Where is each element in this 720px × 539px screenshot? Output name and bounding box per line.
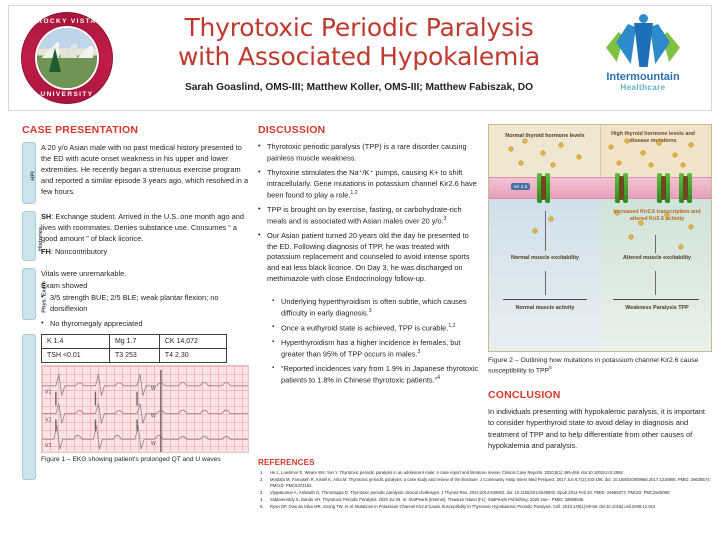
rocky-vista-university-seal-logo: ROCKY VISTA UNIVERSITY [21,12,113,104]
references-heading: REFERENCES [258,458,714,467]
figure2-mechanism-diagram: Normal thyroid hormone levels High thyro… [488,124,712,352]
svg-text:W: W [151,441,156,447]
histories-block: SH: Exchange student. Arrived in the U.S… [41,211,250,261]
lab-cell: CK 14,072 [159,334,226,348]
figure2-left-title: Normal thyroid hormone levels [495,133,595,140]
table-row: TSH <0.01 T3 253 T4 2.30 [42,348,227,362]
fh-text: : Noncontributory [51,247,107,256]
svg-text:V2: V2 [45,417,52,423]
kir26-channel-right-3 [679,173,692,203]
seal-top-text: ROCKY VISTA [21,18,113,25]
conclusion-heading: CONCLUSION [488,389,712,401]
figure1-caption: Figure 1 – EKG showing patient's prolong… [41,456,250,463]
references-list: 1.He L, Lowrimor E, Weare WV, Yan Y. Thy… [258,470,714,510]
reference-text: He L, Lowrimor E, Weare WV, Yan Y. Thyro… [270,470,623,475]
case-presentation-heading: CASE PRESENTATION [22,124,250,136]
title-line-1: Thyrotoxic Periodic Paralysis [129,14,589,43]
list-item: 4.Siddamreddy S, Dandu VH. Thyrotoxic Pe… [258,497,714,503]
list-item: Underlying hyperthyroidism is often subt… [272,297,480,319]
bullet-text: Underlying hyperthyroidism is often subt… [281,297,467,317]
author-list: Sarah Goaslind, OMS-III; Matthew Koller,… [129,82,589,93]
reference-text: Siddamreddy S, Dandu VH. Thyrotoxic Peri… [270,497,584,502]
ekg-figure-image: V1V2V3 WWW [41,365,249,453]
poster-canvas: ROCKY VISTA UNIVERSITY Thyrotoxic Period… [0,0,720,539]
bullet-ref: 1,2 [350,190,357,196]
conclusion-text: In individuals presenting with hypokalem… [488,406,712,450]
list-item: TPP is brought on by exercise, fasting, … [258,205,480,227]
sidebar-tab-hpi: HPI [22,142,36,204]
ekg-traces: V1V2V3 WWW [42,366,248,453]
lab-results-table: K 1.4 Mg 1.7 CK 14,072 TSH <0.01 T3 253 … [41,334,227,363]
reference-text: Mostafa M, Farnaseh R, Kisiell K, Arita … [270,477,711,488]
bullet-ref: 1,2 [448,323,455,329]
seal-emblem [37,28,97,88]
sidebar-tab-phys-exam: Phys. Exam [22,268,36,320]
svg-text:W: W [151,413,156,419]
title-line-2: with Associated Hypokalemia [129,43,589,72]
figure-and-conclusion-column: Normal thyroid hormone levels High thyro… [488,124,712,451]
list-item: 3/5 strength BUE; 2/5 BLE; weak plantar … [41,293,250,315]
lab-cell: T4 2.30 [159,348,226,362]
kir26-channel-right-2 [657,173,670,203]
svg-text:V3: V3 [45,443,52,449]
bullet-ref: 3 [369,308,372,314]
fh-label: FH [41,247,51,256]
table-row: K 1.4 Mg 1.7 CK 14,072 [42,334,227,348]
list-item: 3.Vijayakumar A, Ashwath G, Thimmappa D.… [258,490,714,496]
lab-cell: TSH <0.01 [42,348,110,362]
list-item: Once a euthyroid state is achieved, TPP … [272,323,480,334]
list-item: 5.Ryan DP, Dias da Silva MR, Soong TW, e… [258,504,714,510]
physical-exam-block: Vitals were unremarkable. Exam showed 3/… [41,268,250,330]
svg-text:V1: V1 [45,389,52,395]
list-item: 1.He L, Lowrimor E, Weare WV, Yan Y. Thy… [258,470,714,476]
lab-cell: Mg 1.7 [109,334,159,348]
poster-header: ROCKY VISTA UNIVERSITY Thyrotoxic Period… [8,5,712,111]
case-presentation-column: CASE PRESENTATION HPI A 20 y/o Asian mal… [22,124,250,463]
reference-text: Vijayakumar A, Ashwath G, Thimmappa D. T… [270,490,670,495]
figure2-right-excitability: Altered muscle excitability [609,255,705,262]
logo-name: Intermountain [606,71,679,83]
list-item: Thyrotoxic periodic paralysis (TPP) is a… [258,142,480,164]
list-item: 2.Mostafa M, Farnaseh R, Kisiell K, Arit… [258,477,714,488]
discussion-bullet-list: Thyrotoxic periodic paralysis (TPP) is a… [258,142,480,285]
sidebar-tab-histories: Histories [22,211,36,261]
vitals-text: Vitals were unremarkable. [41,268,250,279]
bullet-text: Thyroxine stimulates the Na⁺/K⁺ pumps, c… [267,168,477,199]
kir26-channel-left [537,173,550,203]
bullet-text: Hyperthyroidism has a higher incidence i… [281,338,461,358]
logo-subtitle: Healthcare [621,83,666,92]
list-item: Our Asian patient turned 20 years old th… [258,231,480,286]
figure2-caption-text: Figure 2 – Outlining how mutations in po… [488,357,698,374]
sidebar-tab-hpi-label: HPI [30,171,36,180]
bullet-ref: 3 [418,349,421,355]
figure2-caption-ref: 5 [549,366,552,371]
figure2-left-excitability: Normal muscle excitability [499,255,591,262]
page-title: Thyrotoxic Periodic Paralysis with Assoc… [129,14,589,71]
intermountain-mark-icon [606,12,680,70]
bullet-text: Our Asian patient turned 20 years old th… [267,231,470,284]
exam-findings-list: 3/5 strength BUE; 2/5 BLE; weak plantar … [41,293,250,329]
social-history-line: SH: Exchange student. Arrived in the U.S… [41,211,250,244]
lab-cell: K 1.4 [42,334,110,348]
figure2-channel-label: Kir 2.6 [511,183,530,190]
intermountain-healthcare-logo: Intermountain Healthcare [589,12,697,104]
figure2-caption: Figure 2 – Outlining how mutations in po… [488,356,712,375]
family-history-line: FH: Noncontributory [41,246,250,257]
list-item: “Reported incidences vary from 1.9% in J… [272,364,480,386]
figure2-left-outcome: Normal muscle activity [499,305,591,312]
list-item: Thyroxine stimulates the Na⁺/K⁺ pumps, c… [258,168,480,201]
list-item: Hyperthyroidism has a higher incidence i… [272,338,480,360]
sh-text: : Exchange student. Arrived in the U.S. … [41,212,244,243]
seal-bottom-text: UNIVERSITY [21,91,113,98]
bullet-text: “Reported incidences vary from 1.9% in J… [281,364,478,384]
bullet-ref: 4 [437,375,440,381]
discussion-column: DISCUSSION Thyrotoxic periodic paralysis… [258,124,480,390]
sidebar-tab-diagnostic-data: Diagnostic Data [22,334,36,480]
reference-text: Ryan DP, Dias da Silva MR, Soong TW, et … [270,504,655,509]
svg-text:W: W [151,385,156,391]
references-section: REFERENCES 1.He L, Lowrimor E, Weare WV,… [258,458,714,512]
bullet-text: Once a euthyroid state is achieved, TPP … [281,324,448,333]
bullet-ref: 3 [444,216,447,222]
bullet-text: Thyrotoxic periodic paralysis (TPP) is a… [267,142,467,162]
figure2-right-outcome: Weakness Paralysis TPP [609,305,705,312]
discussion-sub-bullet-list: Underlying hyperthyroidism is often subt… [272,297,480,386]
sh-label: SH [41,212,51,221]
exam-intro-text: Exam showed [41,280,250,291]
list-item: No thyromegaly appreciated [41,319,250,330]
bullet-text: TPP is brought on by exercise, fasting, … [267,205,462,225]
hpi-text: A 20 y/o Asian male with no past medical… [41,142,250,204]
figure2-right-effect: Increased Kir2.6 transcription and alter… [609,209,705,223]
lab-cell: T3 253 [109,348,159,362]
kir26-channel-right-1 [615,173,628,203]
discussion-heading: DISCUSSION [258,124,480,136]
